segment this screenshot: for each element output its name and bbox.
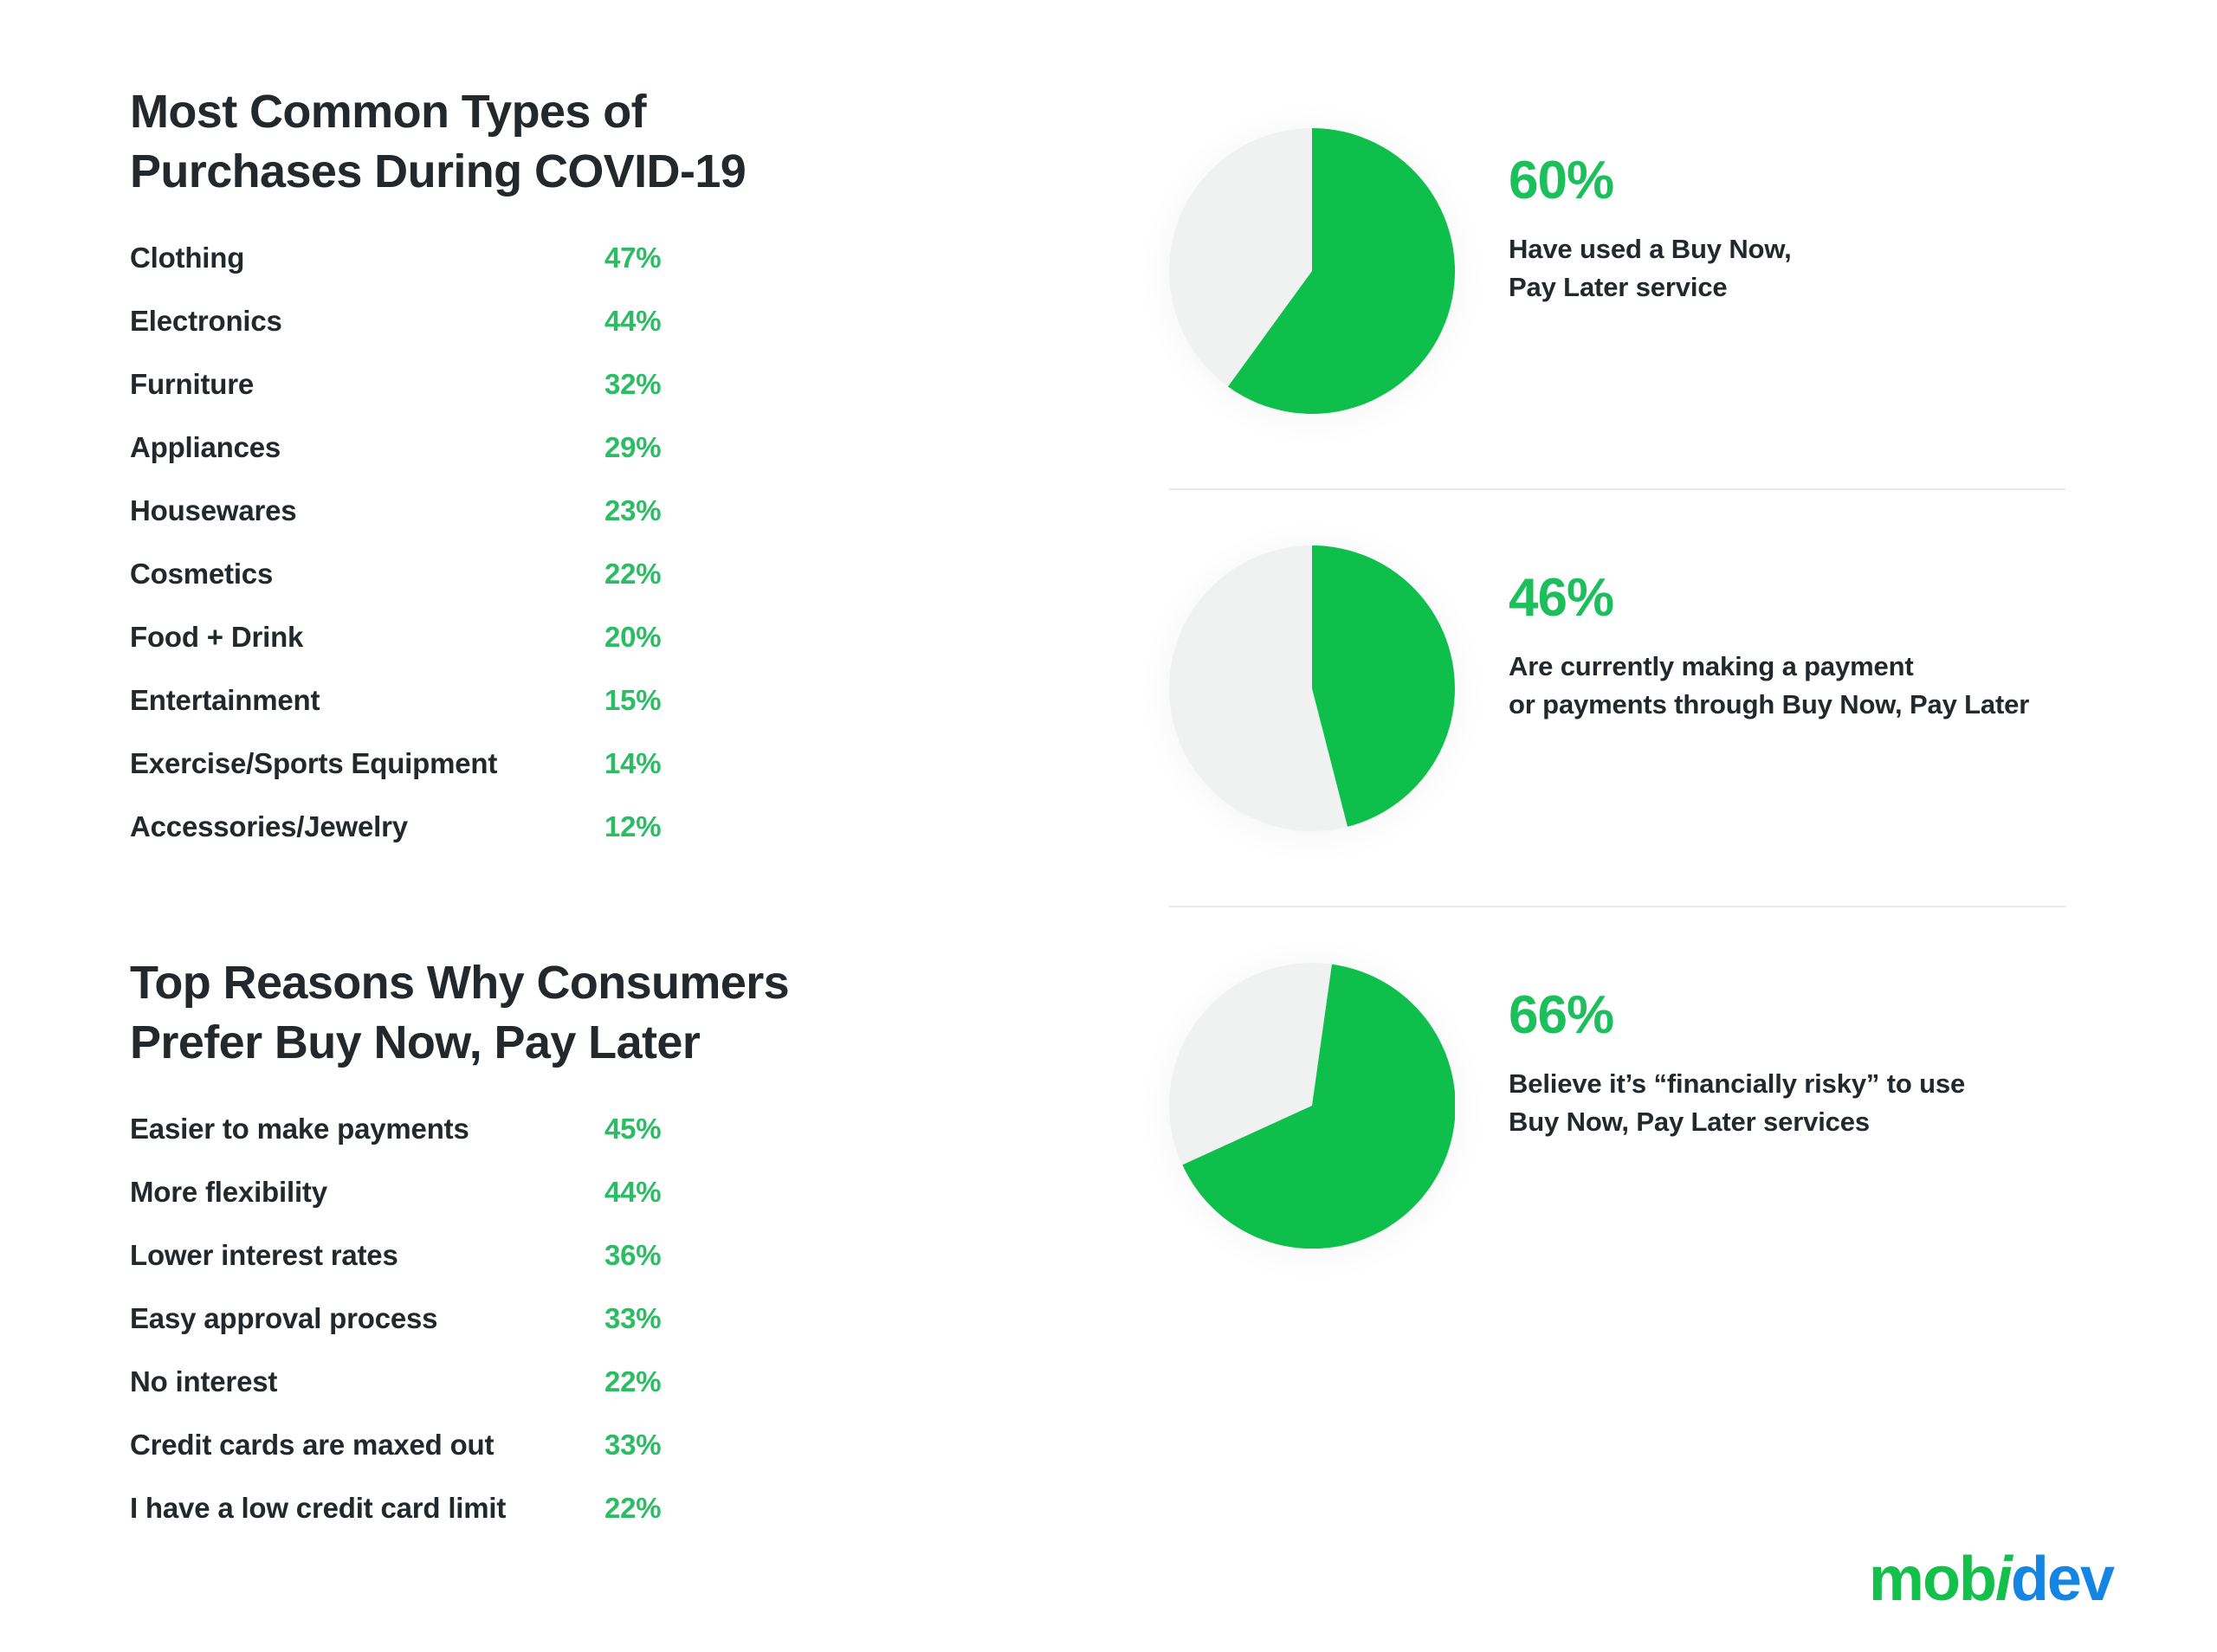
title-line-2: Prefer Buy Now, Pay Later: [130, 1013, 840, 1073]
stat-value: 32%: [584, 368, 667, 401]
stat-label: More flexibility: [130, 1176, 327, 1209]
stat-value: 33%: [584, 1302, 667, 1335]
pie-block-2: 46% Are currently making a payment or pa…: [1169, 521, 2087, 885]
pie-chart-2: [1169, 545, 1455, 831]
list-item: No interest 22%: [130, 1365, 667, 1429]
list-item: Entertainment 15%: [130, 684, 667, 747]
page-title-reasons: Top Reasons Why Consumers Prefer Buy Now…: [130, 953, 840, 1073]
title-line-1: Top Reasons Why Consumers: [130, 953, 840, 1013]
pie-3-description: Believe it’s “financially risky” to use …: [1509, 1065, 1965, 1141]
section-spacer: [130, 874, 1065, 953]
stat-label: Housewares: [130, 494, 296, 527]
stat-value: 23%: [584, 494, 667, 527]
pie-chart-2-svg: [1169, 545, 1455, 831]
stat-value: 44%: [584, 1176, 667, 1209]
pie-chart-3-svg: [1169, 963, 1455, 1249]
list-item: Cosmetics 22%: [130, 558, 667, 621]
stat-label: Electronics: [130, 305, 282, 338]
list-item: Easy approval process 33%: [130, 1302, 667, 1365]
list-item: Lower interest rates 36%: [130, 1239, 667, 1302]
page-title-purchases: Most Common Types of Purchases During CO…: [130, 82, 840, 202]
spacer: [1169, 885, 2087, 906]
list-item: Appliances 29%: [130, 431, 667, 494]
pie-2-desc-line-1: Are currently making a payment: [1509, 648, 2029, 686]
left-column: Most Common Types of Purchases During CO…: [130, 82, 1065, 1555]
pie-1-percent: 60%: [1509, 154, 1792, 208]
pie-chart-1-svg: [1169, 128, 1455, 414]
list-item: More flexibility 44%: [130, 1176, 667, 1239]
stat-label: Credit cards are maxed out: [130, 1429, 494, 1462]
list-item: Accessories/Jewelry 12%: [130, 810, 667, 874]
stat-label: No interest: [130, 1365, 277, 1398]
stat-label: Exercise/Sports Equipment: [130, 747, 497, 780]
pie-3-text: 66% Believe it’s “financially risky” to …: [1509, 939, 1965, 1141]
list-item: Furniture 32%: [130, 368, 667, 431]
stat-value: 47%: [584, 242, 667, 274]
list-item: I have a low credit card limit 22%: [130, 1492, 667, 1555]
list-item: Credit cards are maxed out 33%: [130, 1429, 667, 1492]
title-line-1: Most Common Types of: [130, 82, 840, 142]
purchases-stat-list: Clothing 47% Electronics 44% Furniture 3…: [130, 242, 667, 874]
pie-1-desc-line-1: Have used a Buy Now,: [1509, 230, 1792, 268]
logo-part-dev: dev: [2011, 1545, 2113, 1614]
infographic-canvas: Most Common Types of Purchases During CO…: [0, 0, 2217, 1652]
stat-value: 22%: [584, 558, 667, 590]
logo-part-i: i: [1995, 1545, 2011, 1614]
list-item: Housewares 23%: [130, 494, 667, 558]
stat-value: 22%: [584, 1365, 667, 1398]
stat-label: Clothing: [130, 242, 244, 274]
pie-1-desc-line-2: Pay Later service: [1509, 268, 1792, 307]
reasons-stat-list: Easier to make payments 45% More flexibi…: [130, 1113, 667, 1555]
stat-label: Food + Drink: [130, 621, 303, 654]
stat-value: 22%: [584, 1492, 667, 1525]
mobidev-logo: mobidev: [1869, 1548, 2113, 1610]
pie-2-description: Are currently making a payment or paymen…: [1509, 648, 2029, 724]
logo-part-mob: mob: [1869, 1545, 1995, 1614]
stat-value: 29%: [584, 431, 667, 464]
stat-value: 33%: [584, 1429, 667, 1462]
pie-3-percent: 66%: [1509, 989, 1965, 1042]
list-item: Food + Drink 20%: [130, 621, 667, 684]
stat-value: 15%: [584, 684, 667, 717]
pie-1-text: 60% Have used a Buy Now, Pay Later servi…: [1509, 104, 1792, 307]
pie-3-desc-line-1: Believe it’s “financially risky” to use: [1509, 1065, 1965, 1103]
pie-1-description: Have used a Buy Now, Pay Later service: [1509, 230, 1792, 307]
title-line-2: Purchases During COVID-19: [130, 142, 840, 202]
pie-2-desc-line-2: or payments through Buy Now, Pay Later: [1509, 686, 2029, 724]
stat-label: Cosmetics: [130, 558, 273, 590]
pie-3-desc-line-2: Buy Now, Pay Later services: [1509, 1103, 1965, 1141]
spacer: [1169, 468, 2087, 488]
stat-value: 14%: [584, 747, 667, 780]
pie-chart-1: [1169, 128, 1455, 414]
list-item: Clothing 47%: [130, 242, 667, 305]
stat-label: Lower interest rates: [130, 1239, 398, 1272]
stat-label: Easy approval process: [130, 1302, 437, 1335]
list-item: Electronics 44%: [130, 305, 667, 368]
stat-label: Furniture: [130, 368, 254, 401]
list-item: Exercise/Sports Equipment 14%: [130, 747, 667, 810]
stat-label: Accessories/Jewelry: [130, 810, 408, 843]
stat-label: Appliances: [130, 431, 281, 464]
pie-2-percent: 46%: [1509, 571, 2029, 625]
spacer: [1169, 907, 2087, 939]
stat-label: Entertainment: [130, 684, 320, 717]
pie-block-1: 60% Have used a Buy Now, Pay Later servi…: [1169, 104, 2087, 468]
pie-chart-3: [1169, 963, 1455, 1249]
stat-label: I have a low credit card limit: [130, 1492, 506, 1525]
stat-label: Easier to make payments: [130, 1113, 469, 1145]
right-column: 60% Have used a Buy Now, Pay Later servi…: [1169, 104, 2087, 1302]
stat-value: 44%: [584, 305, 667, 338]
spacer: [1169, 490, 2087, 521]
pie-block-3: 66% Believe it’s “financially risky” to …: [1169, 939, 2087, 1302]
pie-2-text: 46% Are currently making a payment or pa…: [1509, 521, 2029, 724]
stat-value: 12%: [584, 810, 667, 843]
stat-value: 36%: [584, 1239, 667, 1272]
list-item: Easier to make payments 45%: [130, 1113, 667, 1176]
stat-value: 45%: [584, 1113, 667, 1145]
stat-value: 20%: [584, 621, 667, 654]
